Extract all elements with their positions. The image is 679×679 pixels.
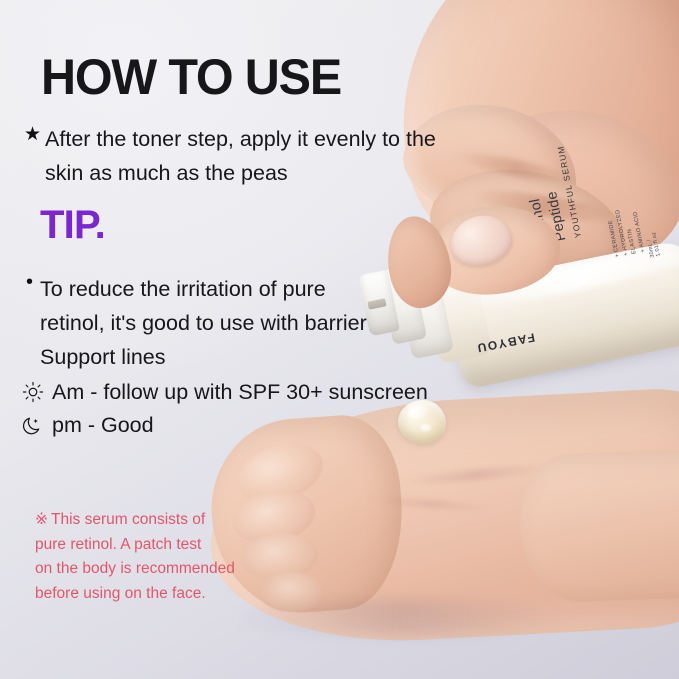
promo-image-canvas: Retinol Peptide YOUTHFUL SERUM + CERAMID… (0, 0, 679, 679)
warning-line-4: before using on the face. (35, 582, 235, 607)
dot-bullet-icon: • (26, 273, 33, 291)
warning-line-1-text: This serum consists of (51, 511, 205, 528)
star-bullet-icon: ★ (24, 125, 41, 144)
usage-step-1-text: After the toner step, apply it evenly to… (45, 122, 444, 190)
warning-note: ※This serum consists of pure retinol. A … (35, 508, 235, 606)
tip-heading: TIP. (40, 205, 105, 245)
schedule-pm-text: pm - Good (52, 411, 154, 439)
warning-line-2: pure retinol. A patch test (35, 533, 235, 558)
reference-mark-icon: ※ (35, 511, 48, 528)
warning-line-3: on the body is recommended (35, 557, 235, 582)
warning-line-1: ※This serum consists of (35, 508, 235, 533)
usage-step-2-text: To reduce the irritation of pure retinol… (40, 272, 386, 374)
schedule-pm: pm - Good (22, 411, 154, 439)
schedule-am: Am - follow up with SPF 30+ sunscreen (22, 378, 428, 406)
moon-icon (22, 414, 44, 436)
text-overlay: HOW TO USE ★ After the toner step, apply… (0, 0, 679, 679)
usage-step-2: • To reduce the irritation of pure retin… (26, 272, 386, 374)
page-title: HOW TO USE (41, 52, 341, 102)
sun-icon (22, 381, 44, 403)
usage-step-1: ★ After the toner step, apply it evenly … (24, 122, 444, 190)
schedule-am-text: Am - follow up with SPF 30+ sunscreen (52, 378, 428, 406)
